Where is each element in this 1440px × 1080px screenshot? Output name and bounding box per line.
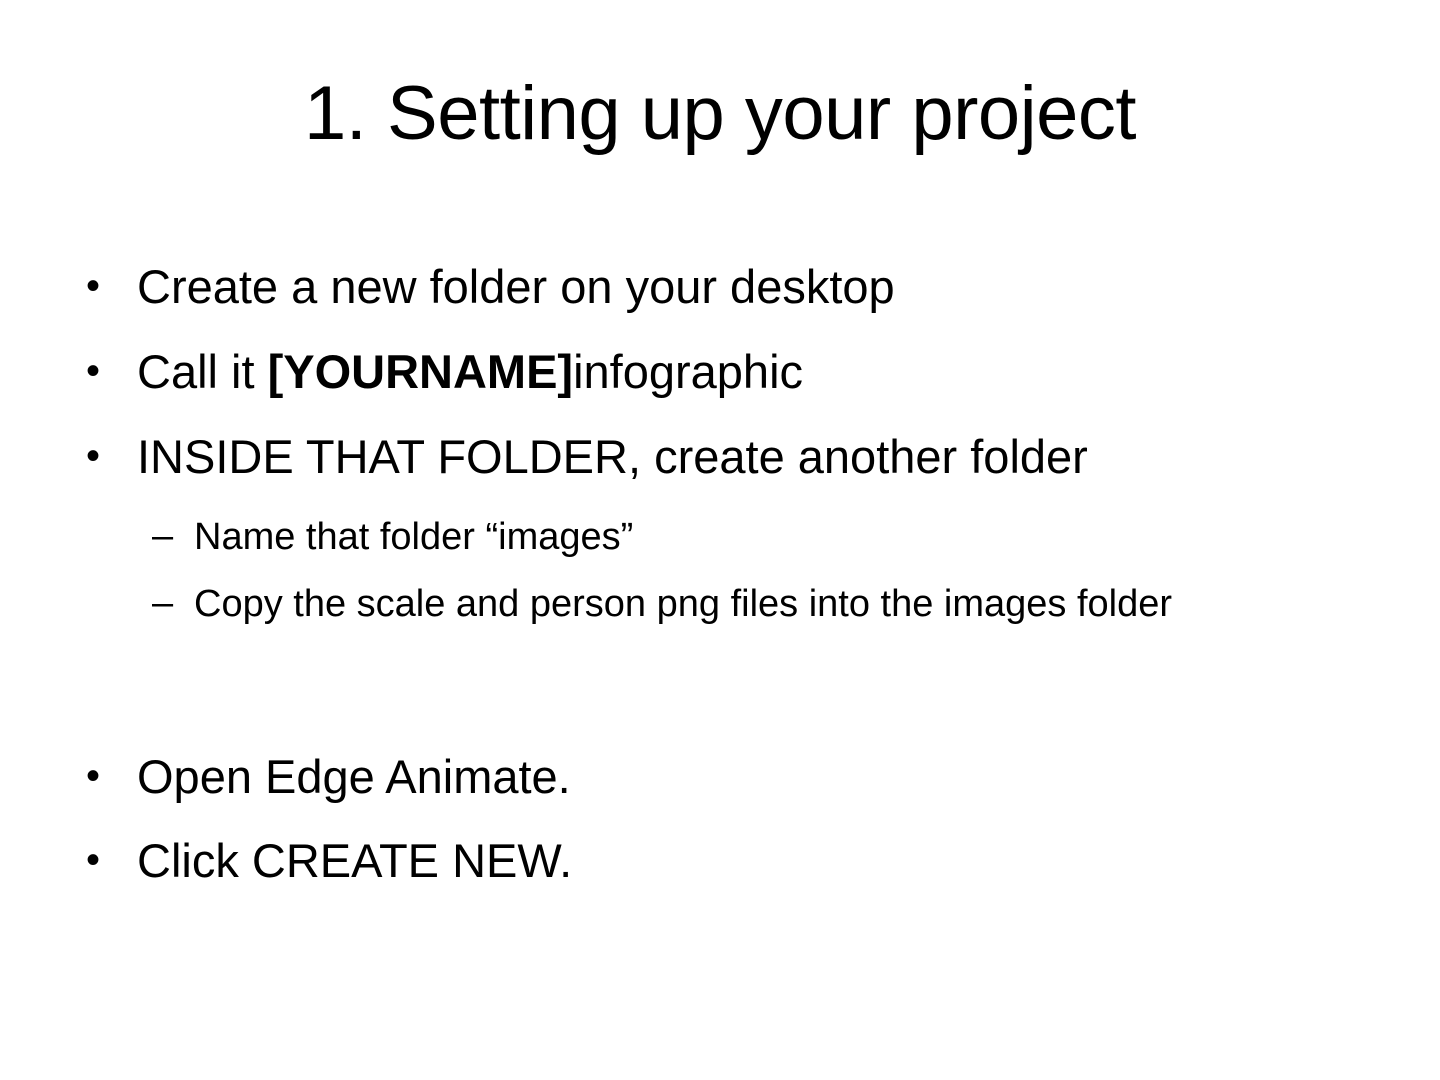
sub-list-item-text: Name that folder “images” xyxy=(194,516,1194,559)
presentation-slide: 1. Setting up your project • Create a ne… xyxy=(0,0,1440,1080)
list-item-text-suffix: infographic xyxy=(573,345,803,398)
list-item-text-emphasis: [YOURNAME] xyxy=(268,345,573,398)
bullet-dot-icon: • xyxy=(86,752,137,801)
slide-body-list: • Create a new folder on your desktop • … xyxy=(86,262,1386,921)
bullet-dot-icon: • xyxy=(86,432,137,481)
list-item[interactable]: • Create a new folder on your desktop xyxy=(86,262,1386,312)
list-item-text: Call it [YOURNAME]infographic xyxy=(137,347,1386,397)
list-item-text: INSIDE THAT FOLDER, create another folde… xyxy=(137,432,1386,482)
sub-list-item[interactable]: – Name that folder “images” xyxy=(152,516,1386,559)
blank-line-spacer xyxy=(86,650,1386,752)
bullet-dash-icon: – xyxy=(152,516,194,558)
list-item[interactable]: • Click CREATE NEW. xyxy=(86,836,1386,886)
bullet-dot-icon: • xyxy=(86,836,137,885)
list-item[interactable]: • INSIDE THAT FOLDER, create another fol… xyxy=(86,432,1386,482)
list-item[interactable]: • Call it [YOURNAME]infographic xyxy=(86,347,1386,397)
sub-list-item-text: Copy the scale and person png files into… xyxy=(194,583,1194,626)
list-item[interactable]: • Open Edge Animate. xyxy=(86,752,1386,802)
list-item-text: Open Edge Animate. xyxy=(137,752,1386,802)
list-item-text-prefix: Call it xyxy=(137,345,268,398)
sub-list-item[interactable]: – Copy the scale and person png files in… xyxy=(152,583,1386,626)
list-item-text: Click CREATE NEW. xyxy=(137,836,1386,886)
list-item-text: Create a new folder on your desktop xyxy=(137,262,1386,312)
slide-title: 1. Setting up your project xyxy=(70,74,1370,154)
bullet-dash-icon: – xyxy=(152,583,194,625)
bullet-dot-icon: • xyxy=(86,347,137,396)
bullet-dot-icon: • xyxy=(86,262,137,311)
